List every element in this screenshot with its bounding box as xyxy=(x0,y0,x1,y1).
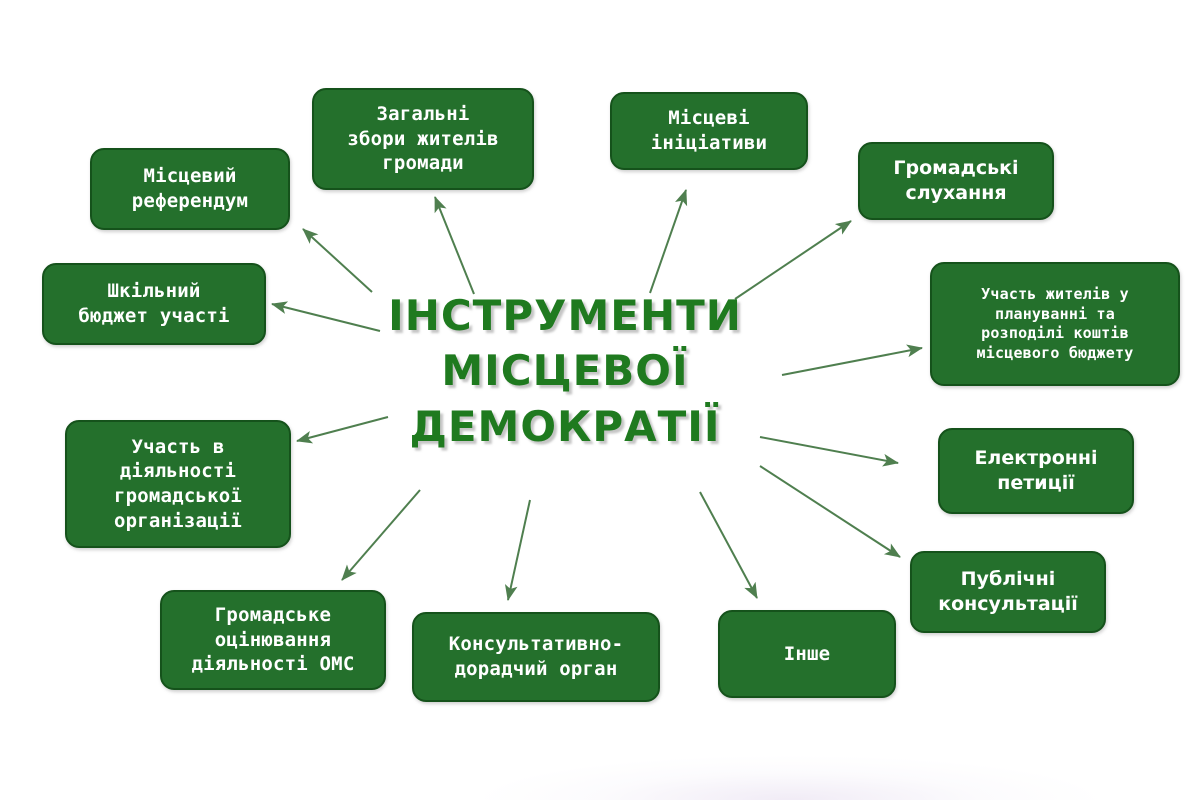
node-label: Консультативно- дорадчий орган xyxy=(422,632,650,681)
node-residents-budget-participation[interactable]: Участь жителів у плануванні та розподілі… xyxy=(930,262,1180,386)
node-label: Місцевий референдум xyxy=(100,164,280,213)
diagram-title: ІНСТРУМЕНТИ МІСЦЕВОЇ ДЕМОКРАТІЇ xyxy=(355,288,775,454)
diagram-canvas: ІНСТРУМЕНТИ МІСЦЕВОЇ ДЕМОКРАТІЇ Місцевий… xyxy=(0,0,1200,800)
arrow-to-local-referendum xyxy=(303,229,372,292)
node-public-evaluation-oms[interactable]: Громадське оцінювання діяльності ОМС xyxy=(160,590,386,690)
node-local-referendum[interactable]: Місцевий референдум xyxy=(90,148,290,230)
arrow-to-general-assembly xyxy=(435,197,474,294)
arrow-to-residents-budget xyxy=(782,348,922,375)
node-label: Загальні збори жителів громади xyxy=(322,102,524,176)
background-wash xyxy=(0,722,1200,800)
arrow-to-public-evaluation xyxy=(342,490,420,580)
node-general-assembly[interactable]: Загальні збори жителів громади xyxy=(312,88,534,190)
arrow-to-local-initiatives xyxy=(650,190,686,293)
node-label: Електронні петиції xyxy=(948,446,1124,495)
node-label: Публічні консультації xyxy=(920,567,1096,616)
arrow-to-public-consultations xyxy=(760,466,900,557)
node-ngo-participation[interactable]: Участь в діяльності громадської організа… xyxy=(65,420,291,548)
node-public-hearings[interactable]: Громадські слухання xyxy=(858,142,1054,220)
node-electronic-petitions[interactable]: Електронні петиції xyxy=(938,428,1134,514)
node-label: Громадські слухання xyxy=(868,156,1044,205)
arrow-to-advisory-body xyxy=(508,500,530,600)
arrow-to-other xyxy=(700,492,757,598)
node-label: Інше xyxy=(728,642,886,667)
node-other[interactable]: Інше xyxy=(718,610,896,698)
node-label: Громадське оцінювання діяльності ОМС xyxy=(170,603,376,677)
node-school-participatory-budget[interactable]: Шкільний бюджет участі xyxy=(42,263,266,345)
node-advisory-body[interactable]: Консультативно- дорадчий орган xyxy=(412,612,660,702)
node-local-initiatives[interactable]: Місцеві ініціативи xyxy=(610,92,808,170)
arrow-to-electronic-petitions xyxy=(760,437,898,463)
node-label: Шкільний бюджет участі xyxy=(52,279,256,328)
node-label: Місцеві ініціативи xyxy=(620,106,798,155)
node-label: Участь в діяльності громадської організа… xyxy=(75,435,281,534)
node-label: Участь жителів у плануванні та розподілі… xyxy=(940,285,1170,363)
node-public-consultations[interactable]: Публічні консультації xyxy=(910,551,1106,633)
